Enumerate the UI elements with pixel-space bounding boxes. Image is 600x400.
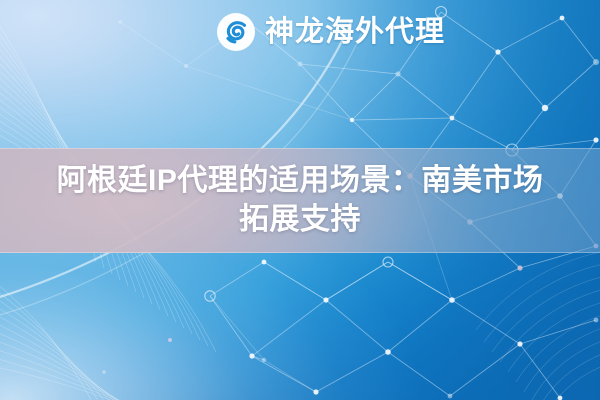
title-band: 阿根廷IP代理的适用场景：南美市场 拓展支持	[0, 148, 600, 253]
title-block: 阿根廷IP代理的适用场景：南美市场 拓展支持	[0, 148, 600, 253]
banner-canvas: 神龙海外代理 阿根廷IP代理的适用场景：南美市场 拓展支持	[0, 0, 600, 400]
spiral-circle-logo-icon	[216, 12, 256, 52]
title-line-2: 拓展支持	[239, 202, 361, 239]
title-line-1: 阿根廷IP代理的适用场景：南美市场	[57, 163, 544, 200]
brand-name: 神龙海外代理	[265, 18, 445, 47]
brand-logo[interactable]: 神龙海外代理	[216, 8, 445, 56]
